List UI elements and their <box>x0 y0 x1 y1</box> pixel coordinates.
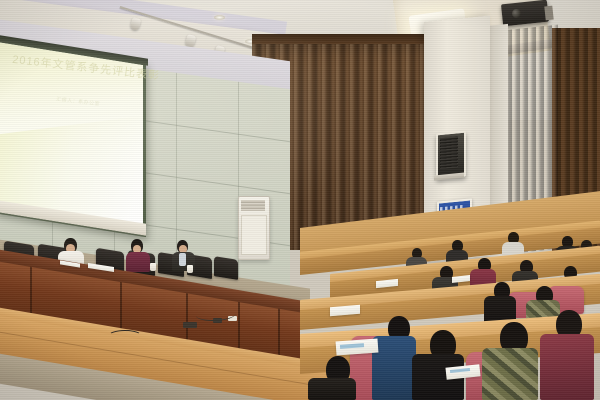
audience-torso <box>540 334 594 400</box>
panel-chair <box>214 256 238 280</box>
ceiling-downlight-icon <box>214 15 225 20</box>
auditorium-photo: 2016年文管系争先评比表彰 汇报人：系办公室 <box>0 0 600 400</box>
air-conditioner-body <box>241 215 267 255</box>
water-cup-icon <box>150 263 156 271</box>
speaker-grill-icon <box>440 136 458 170</box>
audience-torso-denim <box>372 336 416 400</box>
air-conditioner-vent-icon <box>241 200 265 211</box>
panelist-shirt <box>179 253 186 266</box>
audience-torso <box>308 378 356 400</box>
projector-mount <box>544 6 553 21</box>
audience-torso-camo <box>482 348 538 400</box>
water-cup-icon <box>187 265 193 273</box>
stage-cables <box>108 330 142 342</box>
stage-cable-connector <box>183 322 197 328</box>
panelist-torso <box>126 252 150 272</box>
